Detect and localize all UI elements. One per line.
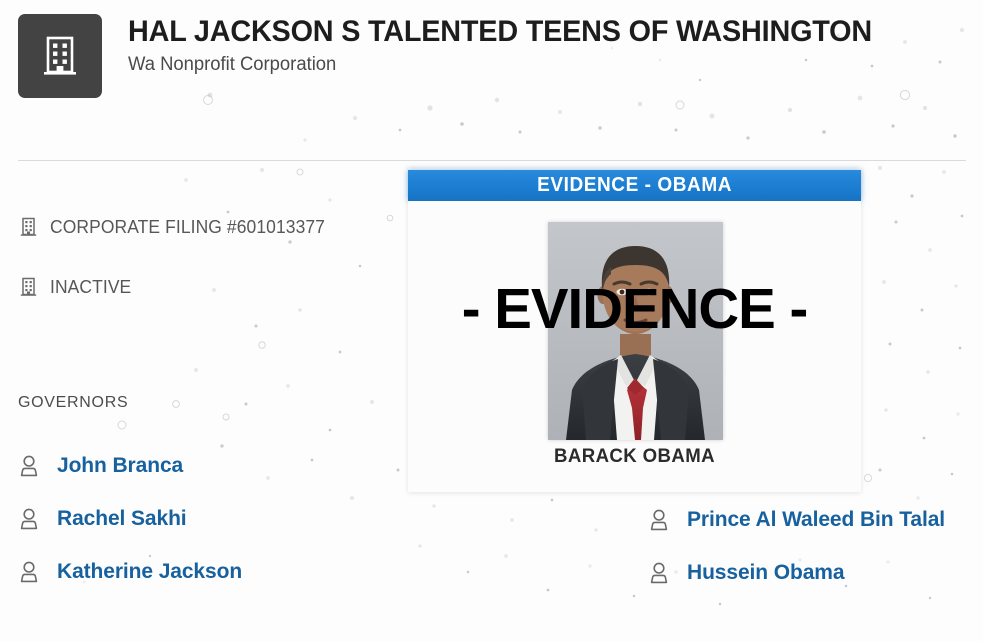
person-icon (18, 454, 40, 478)
page-root: HAL JACKSON S TALENTED TEENS OF WASHINGT… (0, 0, 983, 641)
governors-heading: GOVERNORS (18, 394, 128, 412)
person-icon (648, 508, 670, 532)
person-icon (18, 507, 40, 531)
governor-name[interactable]: Hussein Obama (687, 561, 844, 585)
evidence-banner: EVIDENCE - OBAMA (408, 170, 861, 201)
governors-left-column: John Branca Rachel Sakhi Katherine Jacks… (18, 448, 242, 607)
portrait-caption: BARACK OBAMA (413, 446, 857, 468)
governors-right-column: Prince Al Waleed Bin Talal Hussein Obama (648, 502, 945, 608)
governor-name[interactable]: Katherine Jackson (57, 560, 242, 584)
organization-header: HAL JACKSON S TALENTED TEENS OF WASHINGT… (18, 14, 903, 98)
governor-list-item[interactable]: Prince Al Waleed Bin Talal (648, 502, 945, 538)
governor-name[interactable]: Prince Al Waleed Bin Talal (687, 508, 945, 532)
page-subtitle: Wa Nonprofit Corporation (128, 55, 880, 76)
person-icon (18, 560, 40, 584)
page-title: HAL JACKSON S TALENTED TEENS OF WASHINGT… (128, 16, 872, 48)
person-icon (648, 561, 670, 585)
header-text-block: HAL JACKSON S TALENTED TEENS OF WASHINGT… (128, 14, 903, 76)
status-badge: INACTIVE (50, 277, 131, 298)
governor-list-item[interactable]: Katherine Jackson (18, 554, 242, 590)
governor-list-item[interactable]: Hussein Obama (648, 555, 945, 591)
evidence-card-body: BARACK OBAMA (408, 201, 861, 492)
building-icon (18, 216, 38, 238)
governor-name[interactable]: John Branca (57, 454, 183, 478)
governor-list-item[interactable]: John Branca (18, 448, 242, 484)
header-divider (18, 160, 966, 161)
info-row: INACTIVE (18, 272, 334, 302)
filing-info-list: CORPORATE FILING #601013377 INACTIVE (18, 212, 334, 332)
building-icon (18, 14, 102, 98)
evidence-banner-title: EVIDENCE - OBAMA (537, 174, 732, 197)
building-icon (18, 276, 38, 298)
corporate-filing-label: CORPORATE FILING #601013377 (50, 217, 325, 238)
info-row: CORPORATE FILING #601013377 (18, 212, 334, 242)
governor-name[interactable]: Rachel Sakhi (57, 507, 187, 531)
evidence-overlay-text: - EVIDENCE - (410, 281, 858, 338)
governor-list-item[interactable]: Rachel Sakhi (18, 501, 242, 537)
